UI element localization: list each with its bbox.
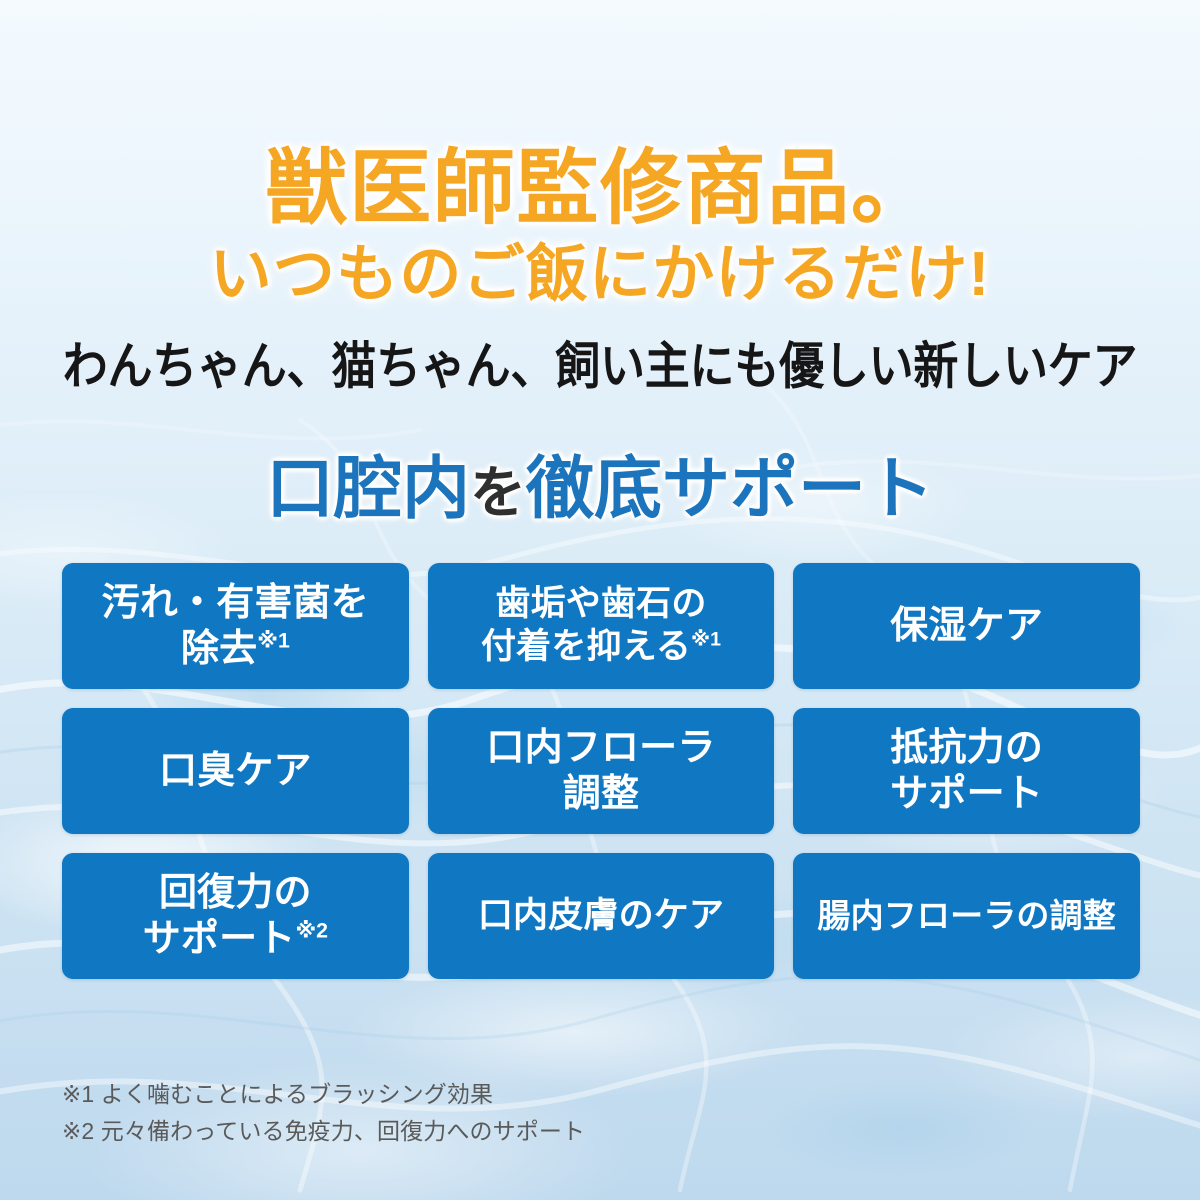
benefit-card-text: 汚れ・有害菌を除去※1 — [94, 580, 377, 673]
benefit-card-line-1: 汚れ・有害菌を — [102, 582, 369, 624]
sub-headline: わんちゃん、猫ちゃん、飼い主にも優しい新しいケア — [0, 340, 1200, 393]
headline-block: 獣医師監修商品。 いつものご飯にかけるだけ! — [0, 148, 1200, 306]
benefit-card-line-1: 口内フローラ — [486, 727, 715, 769]
benefit-card: 回復力のサポート※2 — [62, 853, 409, 979]
benefit-card-line-1: 保湿ケア — [890, 605, 1043, 647]
benefit-card-line-1: 腸内フローラの調整 — [817, 897, 1116, 934]
benefit-card-note: ※1 — [691, 628, 721, 650]
benefit-card-text: 口内皮膚のケア — [470, 895, 732, 938]
benefit-card-line-1: 口臭ケア — [159, 750, 312, 792]
benefit-card-line-2: サポート — [143, 918, 296, 960]
benefit-card-line-2: 調整 — [563, 773, 639, 815]
benefit-card-text: 抵抗力のサポート — [882, 725, 1051, 818]
benefit-card-line-2: 付着を抑える — [481, 627, 691, 666]
footnote-1: ※1 よく噛むことによるブラッシング効果 — [62, 1076, 585, 1113]
benefit-card: 口内フローラ調整 — [428, 708, 775, 834]
benefit-card-text: 腸内フローラの調整 — [809, 896, 1124, 936]
benefit-card: 抵抗力のサポート — [793, 708, 1140, 834]
benefit-card: 口臭ケア — [62, 708, 409, 834]
headline-line-2: いつものご飯にかけるだけ! — [0, 244, 1200, 306]
benefit-card-text: 保湿ケア — [882, 603, 1051, 649]
headline-line-1: 獣医師監修商品。 — [0, 148, 1200, 230]
benefit-card: 保湿ケア — [793, 563, 1140, 689]
benefit-card-text: 歯垢や歯石の付着を抑える※1 — [473, 583, 729, 668]
benefit-card-line-2: 除去 — [181, 628, 257, 670]
benefit-card-line-2: サポート — [890, 773, 1043, 815]
benefit-card-line-1: 口内皮膚のケア — [478, 896, 724, 935]
footnotes-block: ※1 よく噛むことによるブラッシング効果 ※2 元々備わっている免疫力、回復力へ… — [62, 1076, 585, 1151]
benefit-card-note: ※2 — [295, 918, 328, 942]
section-heading: 口腔内を徹底サポート — [0, 455, 1200, 523]
benefit-card: 口内皮膚のケア — [428, 853, 775, 979]
section-heading-part-2: 徹底サポート — [526, 451, 934, 527]
benefit-card-line-1: 歯垢や歯石の — [495, 584, 706, 623]
section-heading-particle: を — [470, 461, 526, 524]
benefit-card-line-1: 回復力の — [159, 872, 312, 914]
benefit-card-text: 回復力のサポート※2 — [135, 870, 336, 963]
benefit-card: 歯垢や歯石の付着を抑える※1 — [428, 563, 775, 689]
benefit-card-text: 口内フローラ調整 — [478, 725, 723, 818]
benefit-card: 汚れ・有害菌を除去※1 — [62, 563, 409, 689]
benefit-card-grid: 汚れ・有害菌を除去※1 歯垢や歯石の付着を抑える※1 保湿ケア 口臭ケア 口内フ… — [62, 563, 1140, 979]
benefit-card-line-1: 抵抗力の — [890, 727, 1043, 769]
benefit-card: 腸内フローラの調整 — [793, 853, 1140, 979]
promo-banner: 獣医師監修商品。 いつものご飯にかけるだけ! わんちゃん、猫ちゃん、飼い主にも優… — [0, 0, 1200, 1200]
footnote-2: ※2 元々備わっている免疫力、回復力へのサポート — [62, 1113, 585, 1150]
benefit-card-note: ※1 — [257, 628, 290, 652]
benefit-card-text: 口臭ケア — [151, 748, 320, 794]
section-heading-part-1: 口腔内 — [266, 451, 470, 527]
